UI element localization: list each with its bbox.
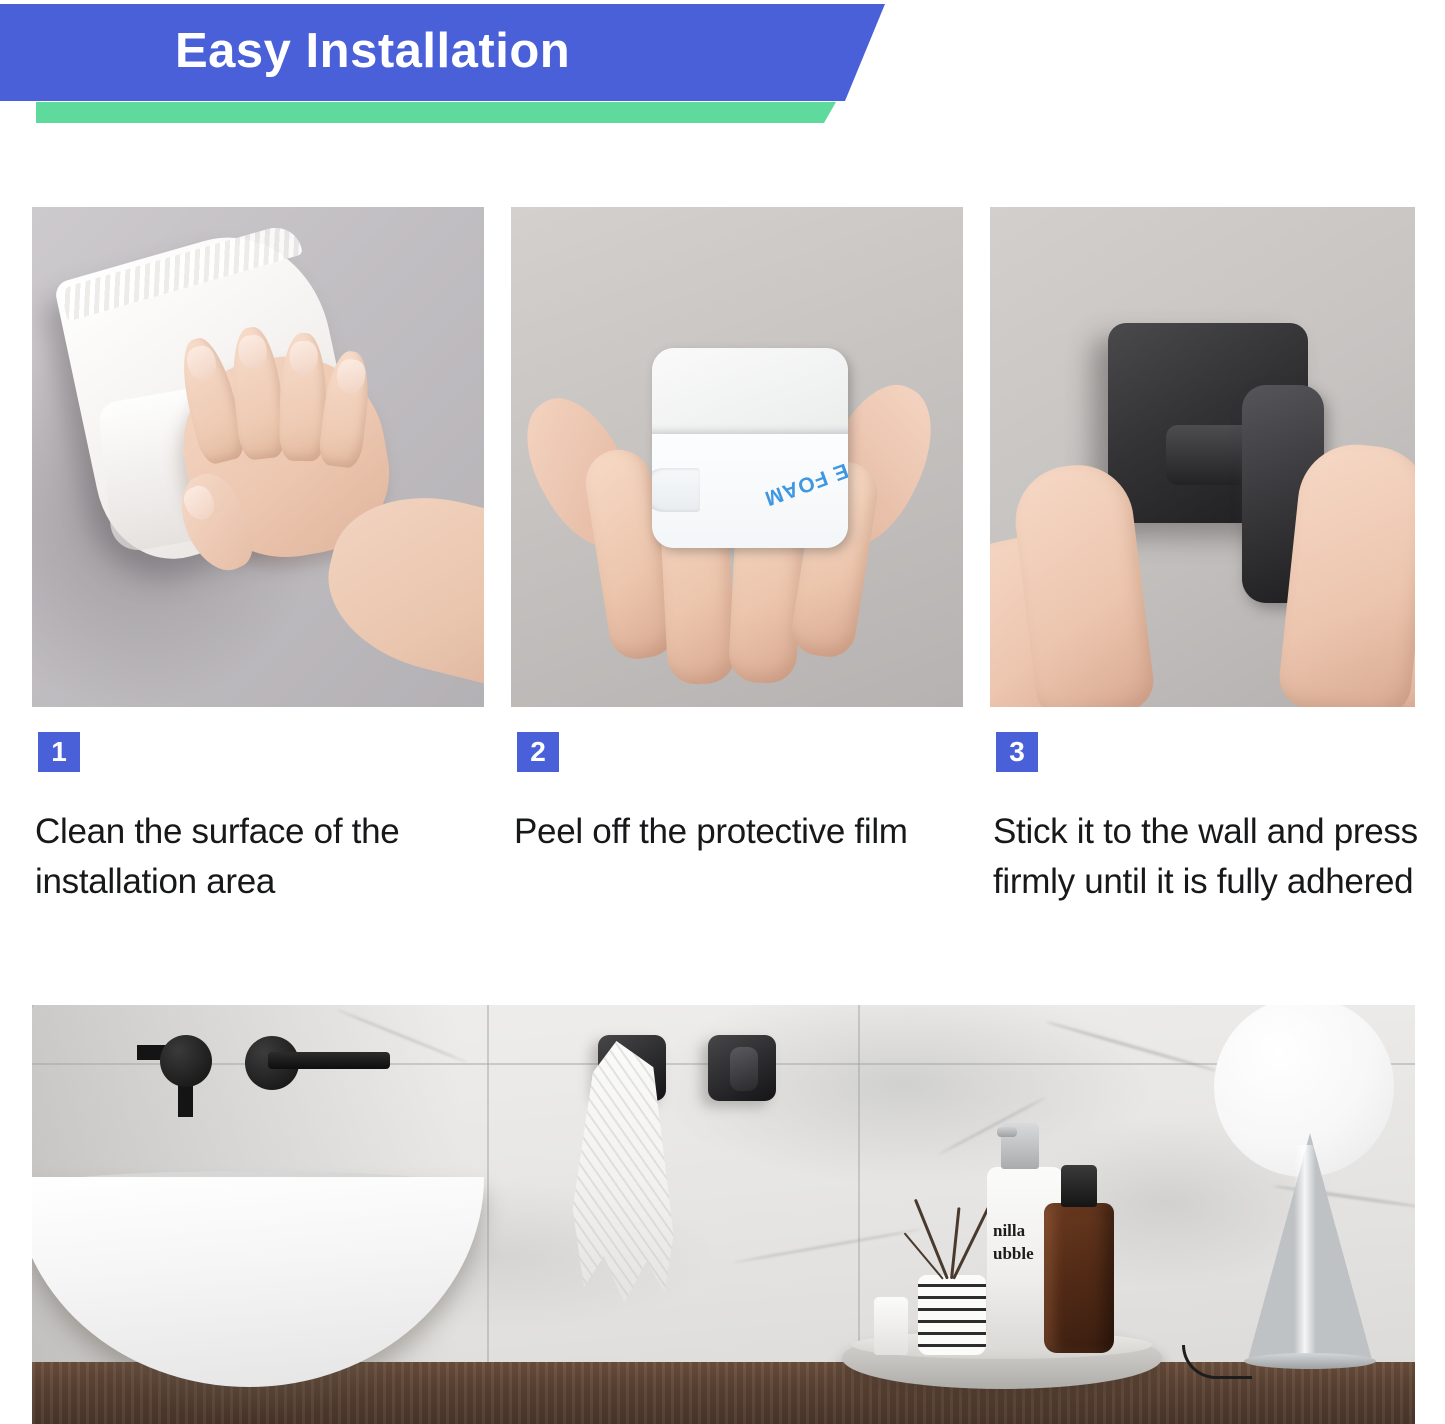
adhesive-pad: 3M PE FOAM PE FOAM 3M 3M PE FOAM — [652, 348, 848, 548]
bottle-cap — [1061, 1165, 1097, 1207]
striped-vase — [918, 1275, 986, 1355]
fingernail — [237, 334, 268, 371]
step-3-photo — [990, 207, 1415, 707]
liner-text-line: PE FOAM 3M — [652, 434, 848, 452]
step-2-photo: 3M PE FOAM PE FOAM 3M 3M PE FOAM — [511, 207, 963, 707]
liner-notch — [652, 468, 700, 512]
lifestyle-photo: nilla ubble — [32, 1005, 1415, 1424]
step-2-caption: Peel off the protective film — [514, 807, 964, 857]
step-1-photo — [32, 207, 484, 707]
protective-film-liner: 3M PE FOAM PE FOAM 3M 3M PE FOAM — [652, 434, 848, 548]
amber-bottle — [1044, 1203, 1114, 1353]
installation-steps: 1 Clean the surface of the installation … — [0, 207, 1445, 977]
fingernail — [184, 343, 219, 383]
lamp-base-ring — [1244, 1353, 1376, 1369]
header-banner: Easy Installation — [0, 0, 1445, 130]
tile-grout-line — [487, 1005, 489, 1363]
fingernail — [289, 341, 318, 375]
pump-head — [1001, 1123, 1039, 1169]
wall-hook-empty — [708, 1035, 776, 1101]
step-1-badge-row: 1 — [38, 732, 80, 772]
step-number-badge: 3 — [996, 732, 1038, 772]
step-number-badge: 1 — [38, 732, 80, 772]
step-1-caption: Clean the surface of the installation ar… — [35, 807, 485, 907]
banner-green-accent — [36, 102, 836, 123]
faucet-wall-plate — [160, 1035, 212, 1087]
step-3-caption: Stick it to the wall and press firmly un… — [993, 807, 1445, 907]
fingernail — [335, 358, 367, 395]
cosmetic-tube — [874, 1297, 908, 1355]
step-2: 3M PE FOAM PE FOAM 3M 3M PE FOAM 2 Peel … — [511, 207, 964, 707]
fingernail — [180, 482, 219, 524]
hand — [160, 325, 484, 655]
page-title: Easy Installation — [175, 22, 570, 80]
step-1: 1 Clean the surface of the installation … — [32, 207, 485, 707]
faucet-lever-handle — [268, 1052, 390, 1069]
lamp-highlight — [1294, 1145, 1316, 1363]
tile-grout-line — [858, 1005, 860, 1363]
step-2-badge-row: 2 — [517, 732, 559, 772]
step-3-badge-row: 3 — [996, 732, 1038, 772]
step-number-badge: 2 — [517, 732, 559, 772]
step-3: 3 Stick it to the wall and press firmly … — [990, 207, 1443, 707]
